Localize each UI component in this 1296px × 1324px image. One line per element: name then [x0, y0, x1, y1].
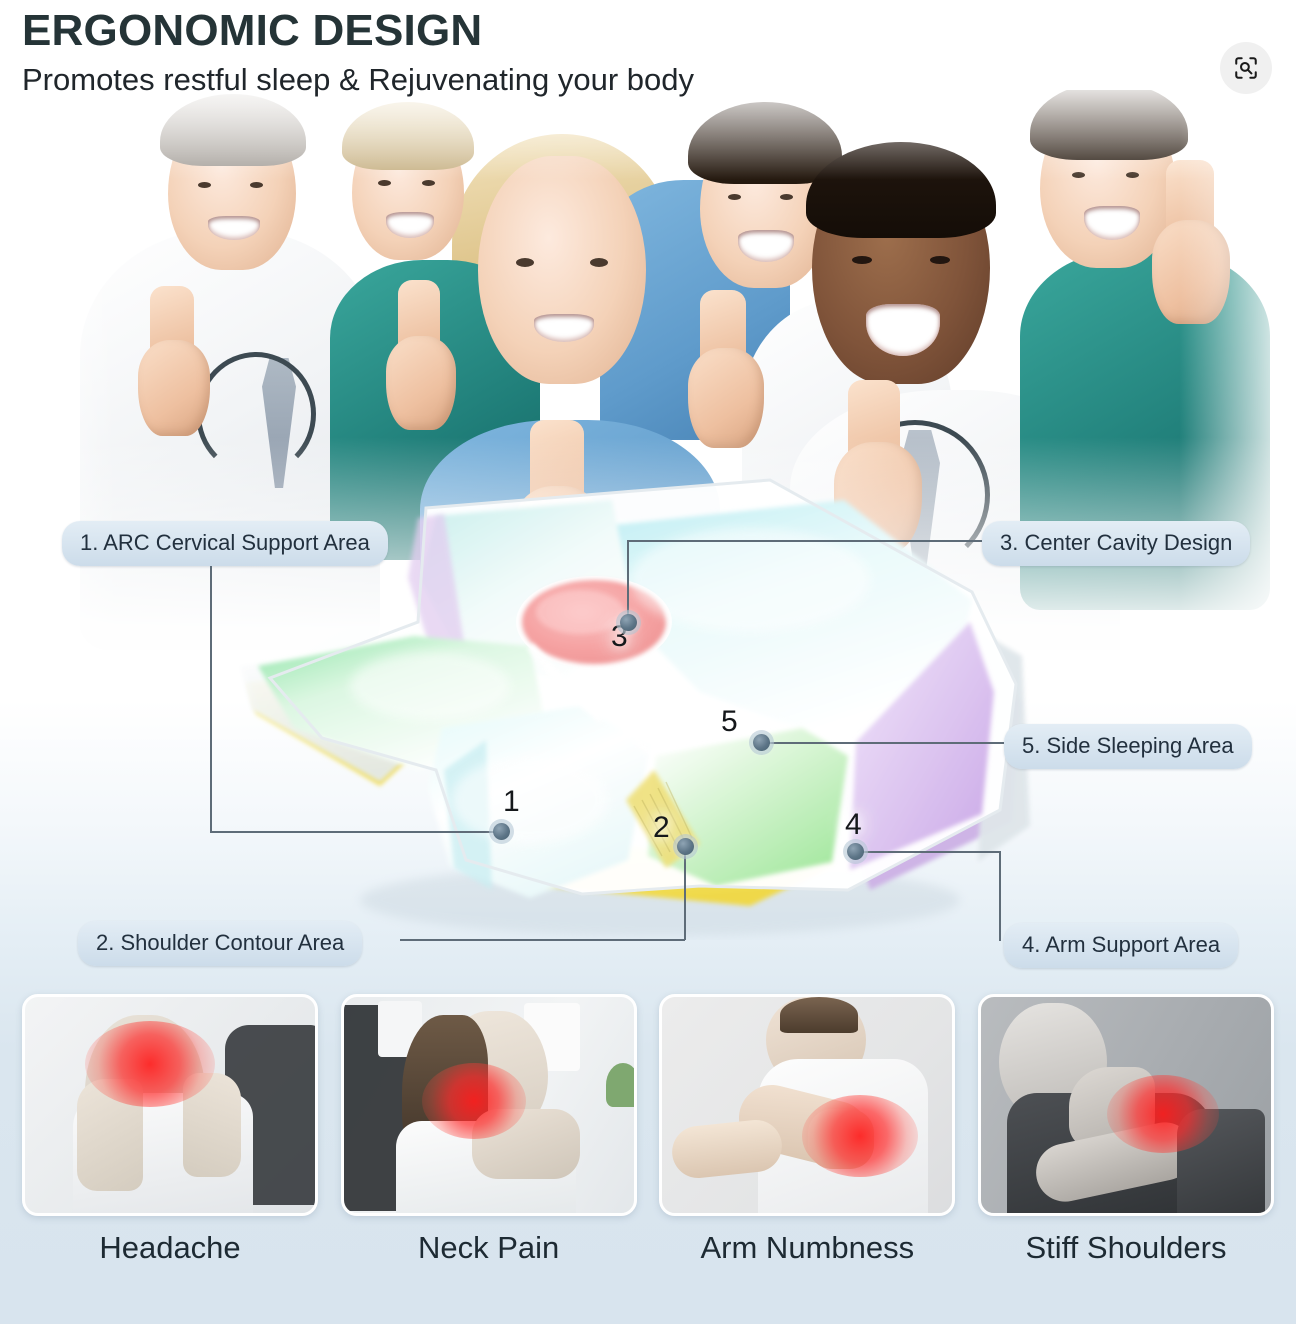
- connector-1-vertical: [210, 560, 212, 832]
- symptom-card-arm-numbness[interactable]: Arm Numbness: [659, 994, 955, 1324]
- connector-4-horizontal: [853, 851, 1000, 853]
- callout-label-5[interactable]: 5. Side Sleeping Area: [1004, 724, 1252, 769]
- doctor-1-stethoscope: [196, 352, 316, 476]
- marker-number-4: 4: [845, 808, 862, 842]
- page-title: ERGONOMIC DESIGN: [22, 8, 694, 54]
- marker-number-2: 2: [653, 811, 670, 845]
- doctor-6-fist: [1152, 220, 1230, 324]
- scan-zoom-button[interactable]: [1220, 42, 1272, 94]
- search-scan-icon: [1233, 55, 1259, 81]
- callout-label-3[interactable]: 3. Center Cavity Design: [982, 521, 1250, 566]
- nurse-3-scrubs: [600, 180, 790, 440]
- doctor-5-thumb: [848, 380, 900, 476]
- marker-number-5: 5: [721, 705, 738, 739]
- connector-2-vertical: [684, 845, 686, 940]
- symptom-card-headache[interactable]: Headache: [22, 994, 318, 1324]
- doctor-6-thumb: [1166, 160, 1214, 250]
- doctor-1-fist: [138, 340, 210, 436]
- callout-label-1[interactable]: 1. ARC Cervical Support Area: [62, 521, 388, 566]
- marker-dot-4[interactable]: [847, 843, 864, 860]
- header-block: ERGONOMIC DESIGN Promotes restful sleep …: [22, 8, 694, 98]
- marker-number-1: 1: [503, 785, 520, 819]
- connector-3-vertical: [627, 540, 629, 624]
- connector-5-horizontal: [760, 742, 1005, 744]
- nurse-2-thumb: [398, 280, 440, 360]
- doctor-6-face: [1040, 100, 1176, 268]
- nurse-4-fist: [688, 348, 764, 448]
- marker-dot-1[interactable]: [493, 823, 510, 840]
- symptom-caption-arm-numbness: Arm Numbness: [659, 1230, 955, 1266]
- connector-4-vertical: [999, 851, 1001, 941]
- marker-dot-3[interactable]: [620, 614, 637, 631]
- connector-1-horizontal: [210, 831, 502, 833]
- symptom-caption-headache: Headache: [22, 1230, 318, 1266]
- symptom-card-row: Headache Neck Pain: [0, 994, 1296, 1324]
- symptom-photo-neck-pain: [341, 994, 637, 1216]
- marker-dot-5[interactable]: [753, 734, 770, 751]
- connector-3-horizontal: [627, 540, 992, 542]
- doctor-5-face: [812, 152, 990, 384]
- nurse-2-face: [352, 118, 464, 260]
- callout-label-2[interactable]: 2. Shoulder Contour Area: [78, 921, 362, 966]
- doctor-1-face: [168, 108, 296, 270]
- page-subtitle: Promotes restful sleep & Rejuvenating yo…: [22, 62, 694, 98]
- doctor-1-tie: [262, 358, 296, 488]
- nurse-4-face: [700, 120, 830, 288]
- symptom-photo-stiff-shoulders: [978, 994, 1274, 1216]
- nurse-center-face: [478, 156, 646, 384]
- infographic-page: ERGONOMIC DESIGN Promotes restful sleep …: [0, 0, 1296, 1324]
- symptom-caption-stiff-shoulders: Stiff Shoulders: [978, 1230, 1274, 1266]
- doctor-1-thumb: [150, 286, 194, 364]
- symptom-card-stiff-shoulders[interactable]: Stiff Shoulders: [978, 994, 1274, 1324]
- symptom-card-neck-pain[interactable]: Neck Pain: [341, 994, 637, 1324]
- symptom-photo-arm-numbness: [659, 994, 955, 1216]
- nurse-2-fist: [386, 336, 456, 430]
- callout-label-4[interactable]: 4. Arm Support Area: [1004, 923, 1238, 968]
- connector-2-horizontal: [400, 939, 685, 941]
- symptom-caption-neck-pain: Neck Pain: [341, 1230, 637, 1266]
- nurse-4-thumb: [700, 290, 746, 374]
- marker-dot-2[interactable]: [677, 838, 694, 855]
- symptom-photo-headache: [22, 994, 318, 1216]
